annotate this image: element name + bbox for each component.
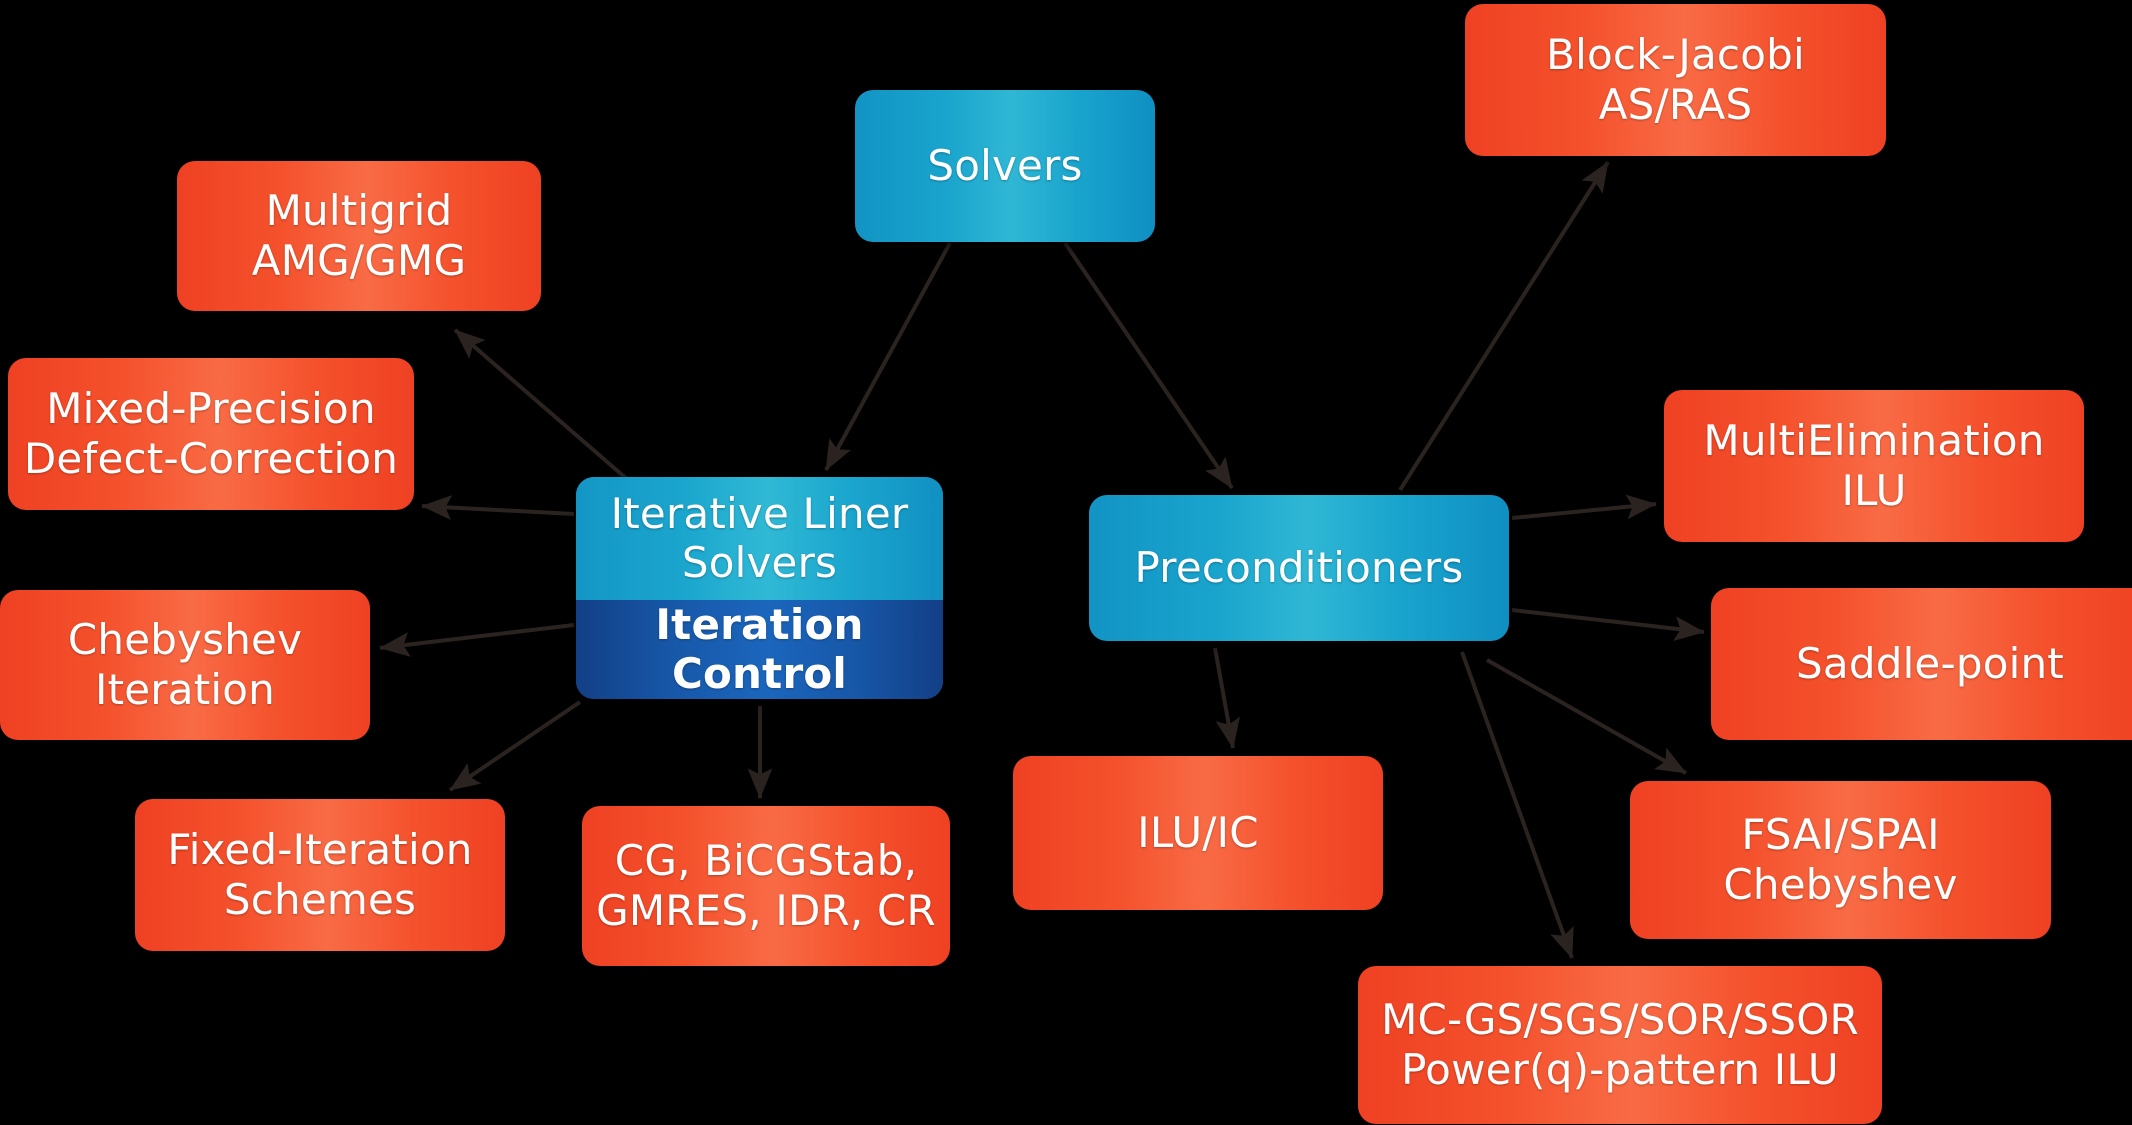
edge-preconditioners-to-fsai-spai bbox=[1487, 660, 1686, 773]
node-saddle-point-label: Saddle-point bbox=[1711, 639, 2132, 689]
node-multigrid-label: Multigrid AMG/GMG bbox=[177, 186, 541, 285]
node-mixed-precision[interactable]: Mixed-Precision Defect-Correction bbox=[8, 358, 414, 510]
edge-preconditioners-to-ilu-ic bbox=[1215, 648, 1233, 748]
node-multielim[interactable]: MultiElimination ILU bbox=[1664, 390, 2084, 542]
node-solvers[interactable]: Solvers bbox=[855, 90, 1155, 242]
diagram-canvas: SolversMultigrid AMG/GMGBlock-Jacobi AS/… bbox=[0, 0, 2132, 1125]
edge-iterative-to-fixed-iteration bbox=[450, 702, 580, 790]
node-block-jacobi-label: Block-Jacobi AS/RAS bbox=[1465, 30, 1886, 129]
node-preconditioners-label: Preconditioners bbox=[1089, 543, 1509, 593]
edge-solvers-to-preconditioners bbox=[1065, 243, 1232, 488]
node-fixed-iteration-label: Fixed-Iteration Schemes bbox=[135, 825, 505, 924]
node-krylov-label: CG, BiCGStab, GMRES, IDR, CR bbox=[582, 836, 950, 935]
node-block-jacobi[interactable]: Block-Jacobi AS/RAS bbox=[1465, 4, 1886, 156]
node-chebyshev-iter-label: Chebyshev Iteration bbox=[0, 615, 370, 714]
node-chebyshev-iter[interactable]: Chebyshev Iteration bbox=[0, 590, 370, 740]
node-iterative-sub-label: Iteration Control bbox=[576, 600, 943, 699]
node-multielim-label: MultiElimination ILU bbox=[1664, 416, 2084, 515]
node-iterative-primary: Iterative Liner Solvers bbox=[576, 477, 943, 600]
edge-iterative-to-chebyshev-iter bbox=[380, 625, 574, 648]
node-iterative-sub[interactable]: Iteration Control bbox=[576, 600, 943, 699]
edge-preconditioners-to-multielim bbox=[1512, 504, 1656, 518]
node-fsai-spai[interactable]: FSAI/SPAI Chebyshev bbox=[1630, 781, 2051, 939]
edge-solvers-to-iterative bbox=[826, 243, 950, 470]
node-iterative-label: Iterative Liner Solvers bbox=[576, 489, 943, 588]
node-ilu-ic-label: ILU/IC bbox=[1013, 808, 1383, 858]
edge-iterative-to-multigrid bbox=[455, 330, 628, 480]
node-multigrid[interactable]: Multigrid AMG/GMG bbox=[177, 161, 541, 311]
node-fixed-iteration[interactable]: Fixed-Iteration Schemes bbox=[135, 799, 505, 951]
node-krylov[interactable]: CG, BiCGStab, GMRES, IDR, CR bbox=[582, 806, 950, 966]
node-fsai-spai-label: FSAI/SPAI Chebyshev bbox=[1630, 810, 2051, 909]
edge-iterative-to-mixed-precision bbox=[422, 506, 574, 514]
node-mc-gs[interactable]: MC-GS/SGS/SOR/SSOR Power(q)-pattern ILU bbox=[1358, 966, 1882, 1124]
node-preconditioners[interactable]: Preconditioners bbox=[1089, 495, 1509, 641]
edge-preconditioners-to-saddle-point bbox=[1512, 610, 1704, 632]
node-mc-gs-label: MC-GS/SGS/SOR/SSOR Power(q)-pattern ILU bbox=[1358, 995, 1882, 1094]
node-iterative[interactable]: Iterative Liner SolversIteration Control bbox=[576, 477, 943, 699]
edge-preconditioners-to-block-jacobi bbox=[1400, 162, 1608, 490]
node-saddle-point[interactable]: Saddle-point bbox=[1711, 588, 2132, 740]
node-solvers-label: Solvers bbox=[855, 141, 1155, 191]
node-mixed-precision-label: Mixed-Precision Defect-Correction bbox=[8, 384, 414, 483]
edge-preconditioners-to-mc-gs bbox=[1462, 652, 1572, 958]
node-ilu-ic[interactable]: ILU/IC bbox=[1013, 756, 1383, 910]
